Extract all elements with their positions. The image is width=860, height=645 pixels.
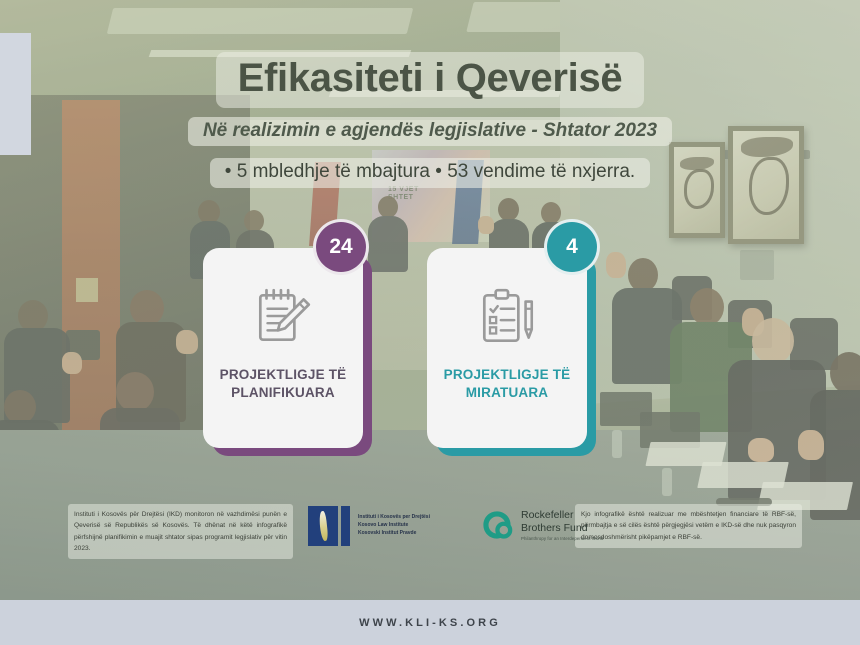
ikd-logo-line2: Kosovo Law Institute xyxy=(358,522,430,530)
summary-stats: • 5 mbledhje të mbajtura • 53 vendime të… xyxy=(210,158,650,188)
card-label-planned: PROJEKTLIGJE TË PLANIFIKUARA xyxy=(203,366,363,402)
page-subtitle: Në realizimin e agjendës legjislative - … xyxy=(188,117,672,146)
footer-note-left: Instituti i Kosovës për Drejtësi (IKD) m… xyxy=(68,504,293,559)
ikd-logo-line1: Instituti i Kosovës per Drejtësi xyxy=(358,514,430,522)
ikd-logo-bar xyxy=(341,506,350,546)
title-container: Efikasiteti i Qeverisë xyxy=(0,52,860,108)
badge-approved-count: 4 xyxy=(544,219,600,275)
website-url[interactable]: WWW.KLI-KS.ORG xyxy=(359,617,501,629)
rbf-logo-mark xyxy=(480,508,514,542)
ikd-logo-text: Instituti i Kosovës per Drejtësi Kosovo … xyxy=(358,514,430,537)
subtitle-container: Në realizimin e agjendës legjislative - … xyxy=(0,117,860,146)
rbf-logo-line1: Rockefeller xyxy=(521,509,604,521)
bottom-bar: WWW.KLI-KS.ORG xyxy=(0,600,860,645)
badge-planned-count: 24 xyxy=(313,219,369,275)
stat-card-planned[interactable]: PROJEKTLIGJE TË PLANIFIKUARA xyxy=(203,248,363,448)
ikd-logo: Instituti i Kosovës per Drejtësi Kosovo … xyxy=(308,506,430,546)
rbf-logo-line2: Brothers Fund xyxy=(521,522,604,534)
infographic-canvas: 15 VJETSHTET xyxy=(0,0,860,645)
ikd-logo-mark xyxy=(308,506,352,546)
ikd-logo-line3: Kosovski Institut Pravde xyxy=(358,530,430,538)
footer-note-right: Kjo infografikë është realizuar me mbësh… xyxy=(575,504,802,548)
rbf-logo-tagline: Philanthropy for an Interdependent World xyxy=(521,536,604,541)
page-title: Efikasiteti i Qeverisë xyxy=(216,52,645,108)
rockefeller-brothers-fund-logo: Rockefeller Brothers Fund Philanthropy f… xyxy=(480,508,604,542)
rbf-logo-text: Rockefeller Brothers Fund Philanthropy f… xyxy=(521,509,604,540)
stat-card-approved[interactable]: PROJEKTLIGJE TË MIRATUARA xyxy=(427,248,587,448)
card-label-approved: PROJEKTLIGJE TË MIRATUARA xyxy=(427,366,587,402)
notepad-pencil-icon xyxy=(250,284,316,350)
clipboard-checklist-pen-icon xyxy=(474,284,540,350)
stats-container: • 5 mbledhje të mbajtura • 53 vendime të… xyxy=(0,158,860,188)
